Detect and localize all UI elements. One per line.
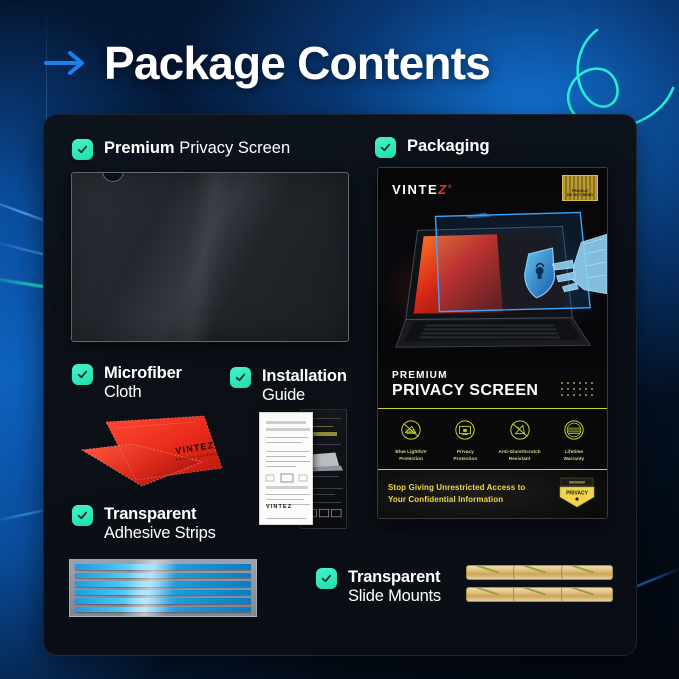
adhesive-strip [75,573,251,579]
installation-guide-image: VINTEZ [259,409,347,529]
box-feature-item: Anti-Glare/ScratchResistant [494,419,546,462]
check-icon [234,371,247,384]
screen-notch [102,172,124,182]
box-feature-list: Blue Light/UVProtection PrivacyProtectio… [378,413,607,469]
box-title-block: PREMIUM PRIVACY SCREEN [378,364,607,409]
box-feature-item: LifetimeWarranty [548,419,600,462]
box-title-pre: PREMIUM [392,370,593,381]
fragile-line-2: DO NOT BEND [567,193,593,198]
adhesive-strip [75,564,251,570]
check-icon [76,368,89,381]
checklist-label-normal: Slide Mounts [348,587,441,606]
lifetime-warranty-icon [563,419,585,441]
feature-line-1: Privacy [457,449,474,454]
microfiber-cloth-image: VINTEZ PRIVACY SCREENS [76,410,226,492]
checklist-label-bold: Installation [262,367,347,386]
guide-light-page: VINTEZ [259,412,313,525]
slide-mount-piece [513,565,565,580]
svg-text:PRIVACY: PRIVACY [566,491,589,497]
checklist-label-bold: Transparent [104,505,216,524]
checklist-label-bold: Premium [104,139,175,157]
privacy-screen-product-image [71,172,349,342]
checklist-label-normal: Cloth [104,383,182,402]
slide-mounts-image [466,565,608,609]
fragile-badge: FRAGILE DO NOT BEND [562,175,598,201]
checklist-label-bold: Microfiber [104,364,182,383]
screen-sheen [162,172,242,342]
checkbox-checked[interactable] [72,364,93,385]
checklist-item-transparent-adhesive-strips[interactable]: Transparent Adhesive Strips [72,505,216,544]
check-icon [76,509,89,522]
guide-brand: VINTEZ [266,504,292,510]
check-icon [379,141,392,154]
privacy-monitor-icon [454,419,476,441]
checklist-label: Premium Privacy Screen [104,139,290,158]
banner-line-2: Your Confidential Information [388,495,503,504]
check-icon [320,572,333,585]
adhesive-strip [75,598,251,604]
box-bottom-banner: Stop Giving Unrestricted Access to Your … [378,470,607,518]
page-header: Package Contents [44,36,490,90]
box-feature-item: PrivacyProtection [439,419,491,462]
checklist-label-normal: Guide [262,386,347,405]
check-icon [76,143,89,156]
checklist-label-normal: Privacy Screen [179,139,290,157]
slide-mount-piece [561,565,613,580]
checklist-item-installation-guide[interactable]: Installation Guide [230,367,347,406]
checklist-label: Packaging [407,137,490,156]
checklist-label: Microfiber Cloth [104,364,182,403]
checkbox-checked[interactable] [72,139,93,160]
slide-mount-row [466,565,608,580]
guide-page-figures [264,473,310,483]
slide-mount-piece [466,565,518,580]
checklist-label-normal: Adhesive Strips [104,524,216,543]
box-feature-item: Blue Light/UVProtection [385,419,437,462]
checklist-item-transparent-slide-mounts[interactable]: Transparent Slide Mounts [316,568,441,607]
feature-line-1: Anti-Glare/Scratch [499,449,541,454]
arrow-right-icon [44,50,88,76]
checklist-label-bold: Transparent [348,568,441,587]
adhesive-strips-image [69,559,257,617]
banner-line-1: Stop Giving Unrestricted Access to [388,483,525,492]
blue-light-uv-icon [400,419,422,441]
feature-line-2: Protection [454,456,478,461]
checklist-item-premium-privacy-screen[interactable]: Premium Privacy Screen [72,139,290,160]
checkbox-checked[interactable] [375,137,396,158]
slide-mount-piece [561,587,613,602]
packaging-box-artwork: VINTEZ® FRAGILE DO NOT BEND [378,168,607,368]
page-title: Package Contents [104,36,490,90]
checkbox-checked[interactable] [316,568,337,589]
box-dot-pattern [561,382,595,398]
anti-glare-scratch-icon [509,419,531,441]
adhesive-strip [75,607,251,613]
checklist-label: Transparent Adhesive Strips [104,505,216,544]
slide-mount-piece [466,587,518,602]
checklist-item-microfiber-cloth[interactable]: Microfiber Cloth [72,364,182,403]
brand-accent-letter: Z [438,182,448,197]
slide-mount-piece [513,587,565,602]
feature-line-2: Resistant [509,456,531,461]
privacy-seal-badge-icon: MAXIMUM PRIVACY [557,477,597,511]
feature-line-2: Protection [399,456,423,461]
checklist-label: Installation Guide [262,367,347,406]
adhesive-strip [75,590,251,596]
box-brand-logo: VINTEZ® [392,182,453,197]
checklist-item-packaging[interactable]: Packaging [375,137,490,158]
feature-line-2: Warranty [564,456,585,461]
slide-mount-row [466,587,608,602]
checkbox-checked[interactable] [72,505,93,526]
checkbox-checked[interactable] [230,367,251,388]
brand-trademark: ® [448,185,453,191]
packaging-box-image: VINTEZ® FRAGILE DO NOT BEND PREMIUM PRIV… [377,167,608,519]
checklist-label-bold: Packaging [407,137,490,155]
feature-line-1: Blue Light/UV [395,449,426,454]
feature-line-1: Lifetime [565,449,583,454]
svg-text:MAXIMUM: MAXIMUM [569,481,585,485]
checklist-label: Transparent Slide Mounts [348,568,441,607]
adhesive-strip [75,581,251,587]
